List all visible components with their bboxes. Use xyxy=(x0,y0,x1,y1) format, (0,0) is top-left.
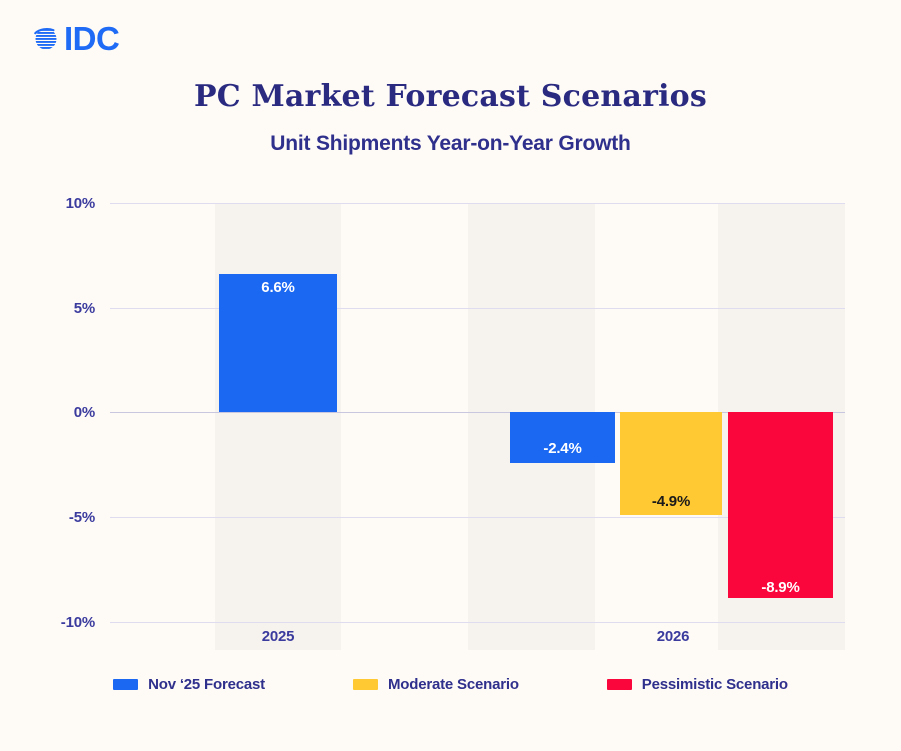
bar-2026-pessimistic-scenario[interactable] xyxy=(728,412,833,598)
legend-label-nov25-forecast: Nov ‘25 Forecast xyxy=(148,676,265,693)
legend-label-pessimistic-scenario: Pessimistic Scenario xyxy=(642,676,788,693)
chart-plot-area: 10% 5% 0% -5% -10% 6.6% -2.4% -4.9% -8.9… xyxy=(0,0,901,751)
gridline-minus10 xyxy=(110,622,845,623)
y-axis-tick-0: 0% xyxy=(20,404,95,421)
chart-legend: Nov ‘25 Forecast Moderate Scenario Pessi… xyxy=(0,676,901,693)
legend-item-pessimistic-scenario[interactable]: Pessimistic Scenario xyxy=(607,676,788,693)
legend-label-moderate-scenario: Moderate Scenario xyxy=(388,676,519,693)
legend-item-nov25-forecast[interactable]: Nov ‘25 Forecast xyxy=(113,676,265,693)
y-axis-tick-5: 5% xyxy=(20,300,95,317)
y-axis-tick-minus5: -5% xyxy=(20,509,95,526)
bar-label-2026-moderate-scenario: -4.9% xyxy=(620,493,722,510)
bar-label-2026-pessimistic-scenario: -8.9% xyxy=(728,579,833,596)
y-axis-tick-minus10: -10% xyxy=(20,614,95,631)
legend-swatch-icon xyxy=(113,679,138,690)
x-axis-tick-2025: 2025 xyxy=(215,628,341,645)
plot-band-2025 xyxy=(215,203,341,650)
bar-label-2026-nov25-forecast: -2.4% xyxy=(510,440,615,457)
x-axis-tick-2026: 2026 xyxy=(610,628,736,645)
legend-swatch-icon xyxy=(607,679,632,690)
legend-swatch-icon xyxy=(353,679,378,690)
legend-item-moderate-scenario[interactable]: Moderate Scenario xyxy=(353,676,519,693)
y-axis-tick-10: 10% xyxy=(20,195,95,212)
gridline-10 xyxy=(110,203,845,204)
bar-label-2025-nov25-forecast: 6.6% xyxy=(219,279,337,296)
